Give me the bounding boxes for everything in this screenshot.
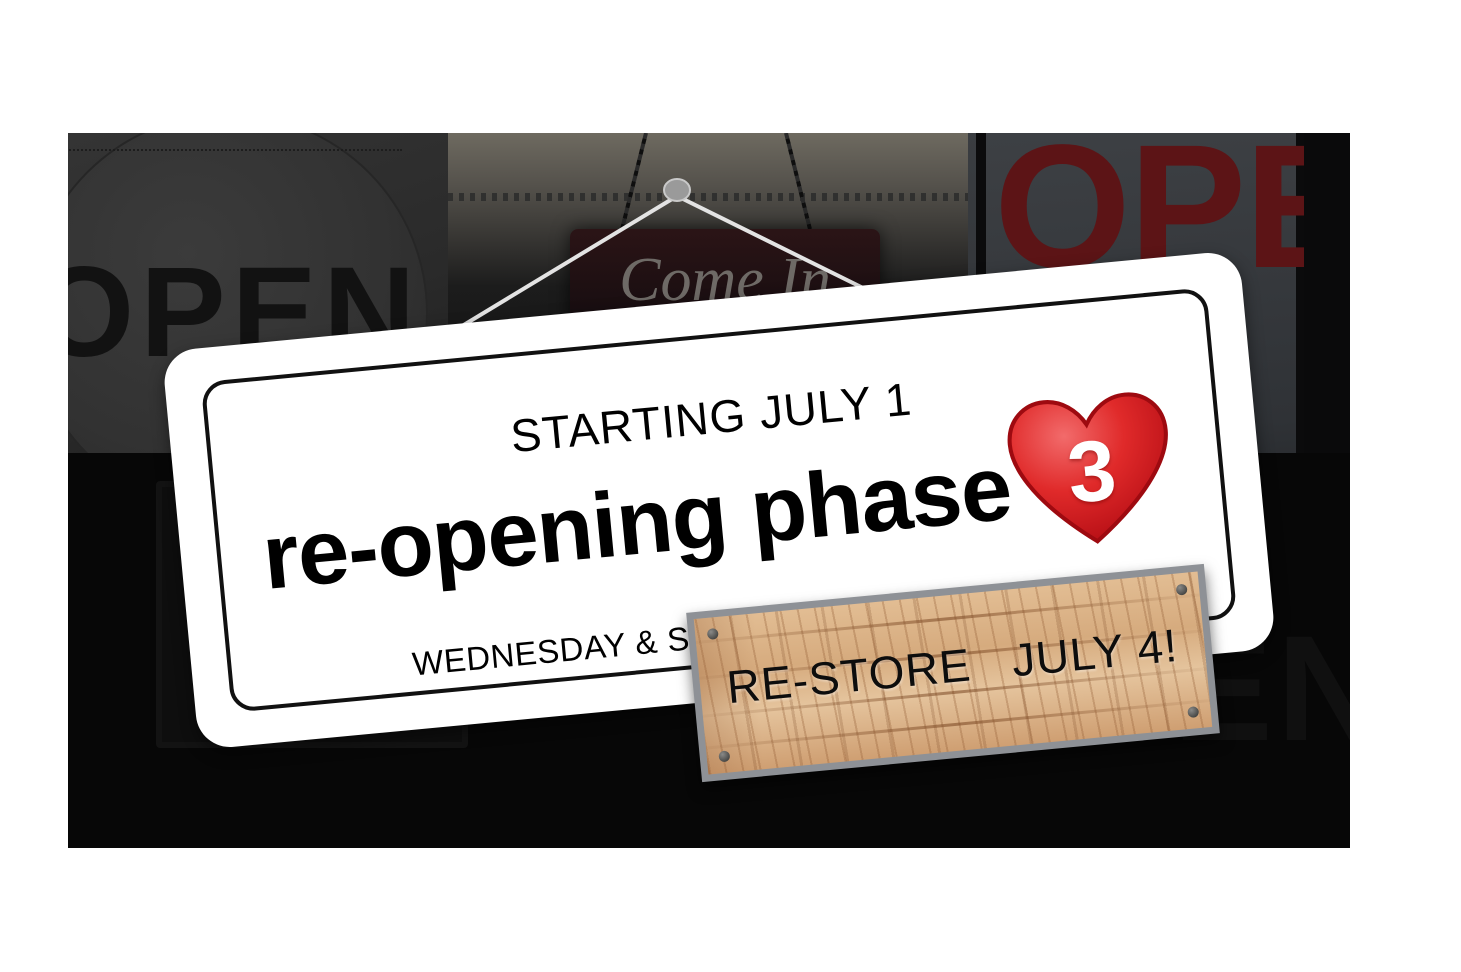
oval-dash-top — [68, 149, 402, 151]
screw-icon — [1187, 706, 1199, 718]
bg-lace-trim — [448, 193, 968, 201]
bg-chain-left — [617, 133, 647, 240]
phase-number-badge: 3 — [1002, 421, 1181, 523]
heart-icon: 3 — [999, 387, 1184, 553]
wood-sign-label: RE-STORE JULY 4! — [698, 615, 1207, 716]
screw-icon — [718, 750, 730, 762]
bg-chain-right — [784, 133, 814, 240]
